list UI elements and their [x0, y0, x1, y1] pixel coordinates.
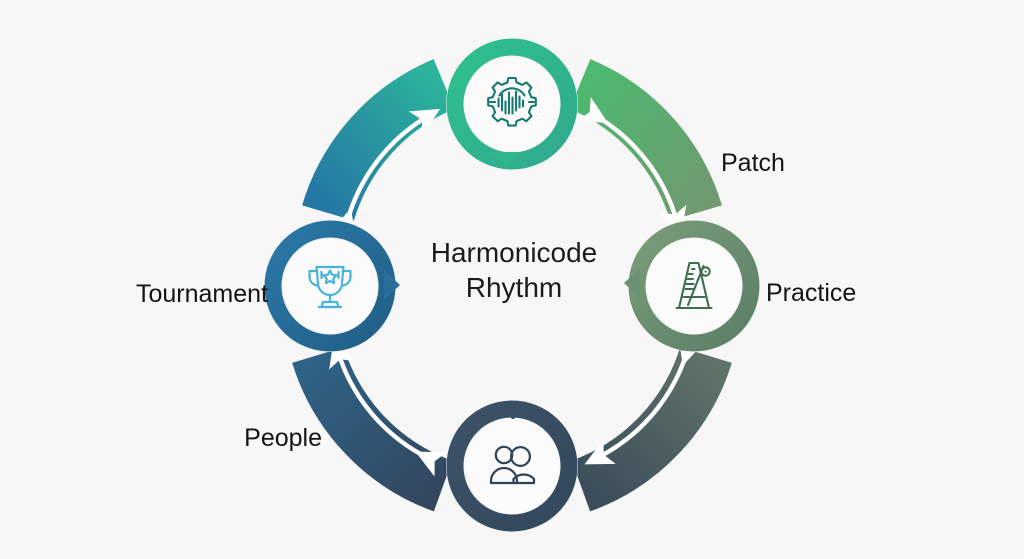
- node-tournament-disc: [283, 239, 377, 333]
- cycle-diagram: Harmonicode Rhythm Patch Practice People…: [0, 0, 1024, 559]
- label-tournament: Tournament: [136, 280, 268, 308]
- label-patch: Patch: [721, 149, 785, 177]
- node-patch[interactable]: [446, 38, 578, 170]
- node-tournament[interactable]: [264, 220, 400, 352]
- label-people: People: [244, 424, 322, 452]
- segment-bottom-right: [581, 355, 706, 486]
- center-title-line2: Rhythm: [466, 272, 562, 303]
- center-title: Harmonicode Rhythm: [431, 237, 598, 303]
- node-practice[interactable]: [624, 220, 760, 352]
- diagram-canvas: Harmonicode Rhythm Patch Practice People…: [0, 0, 1024, 559]
- label-practice: Practice: [766, 279, 856, 307]
- node-people-disc: [465, 419, 559, 513]
- node-people[interactable]: [446, 400, 578, 532]
- node-practice-disc: [647, 239, 741, 333]
- center-title-line1: Harmonicode: [431, 237, 598, 268]
